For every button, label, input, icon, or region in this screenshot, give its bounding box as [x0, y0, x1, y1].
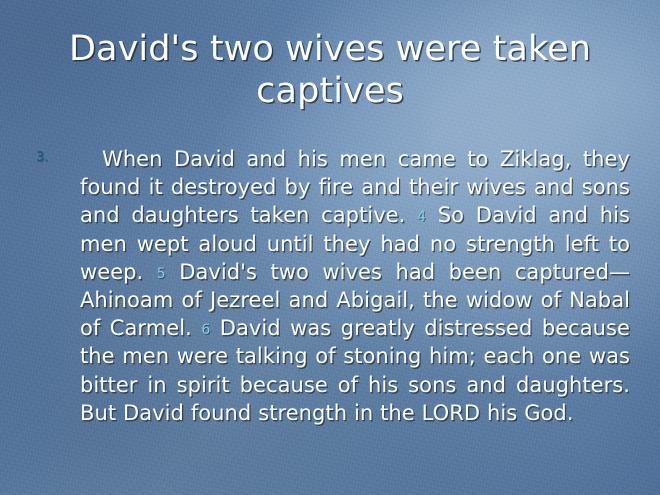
verse-number-6: 6 [201, 322, 210, 338]
list-item-text: When David and his men came to Ziklag, t… [80, 145, 630, 427]
verse-number-4: 4 [417, 209, 426, 225]
slide-title: David's two wives were taken captives [36, 28, 624, 112]
slide-body: 3. When David and his men came to Ziklag… [30, 145, 630, 427]
list-item-marker: 3. [36, 151, 48, 164]
presentation-slide: David's two wives were taken captives 3.… [0, 0, 660, 495]
list-item: 3. When David and his men came to Ziklag… [30, 145, 630, 427]
verse-number-5: 5 [157, 266, 166, 282]
slide-title-text: David's two wives were taken captives [36, 28, 624, 112]
